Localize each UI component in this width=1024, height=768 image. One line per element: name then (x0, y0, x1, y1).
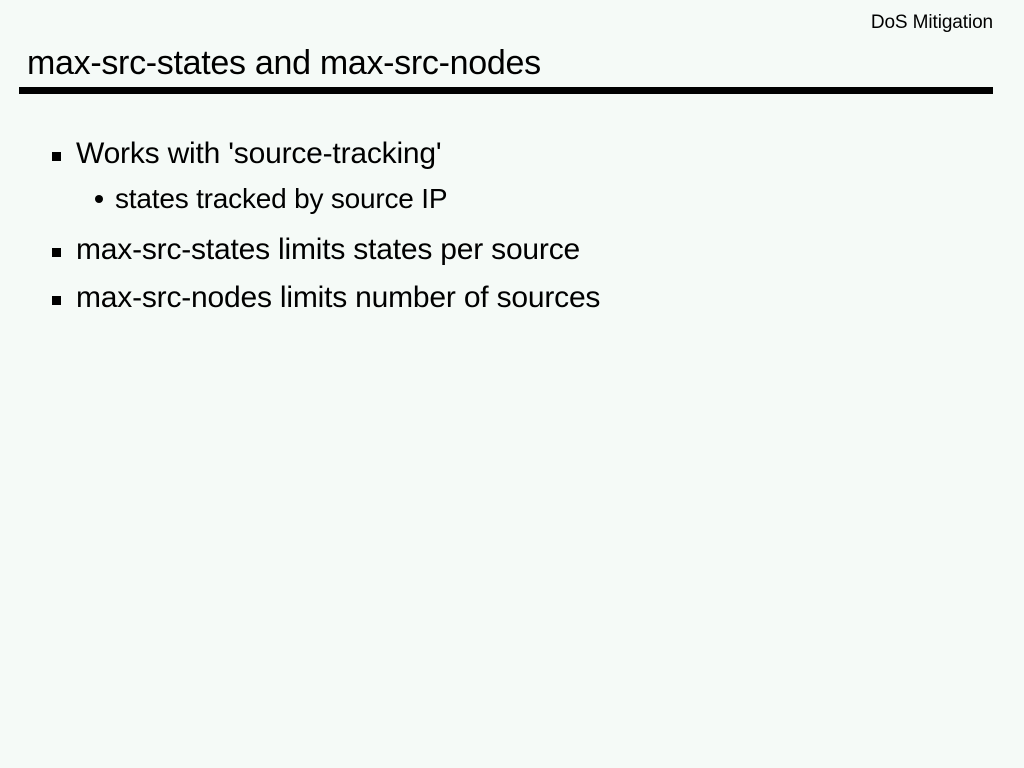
list-item: max-src-states limits states per source (0, 229, 1024, 277)
round-bullet-icon (95, 195, 103, 203)
list-item: max-src-nodes limits number of sources (0, 277, 1024, 325)
list-item-label: max-src-nodes limits number of sources (76, 280, 600, 316)
slide-title: max-src-states and max-src-nodes (27, 43, 541, 83)
list-item: Works with 'source-tracking' (0, 133, 1024, 181)
slide-bullet-list: Works with 'source-tracking' states trac… (0, 133, 1024, 325)
square-bullet-icon (52, 152, 61, 161)
list-item: states tracked by source IP (0, 181, 1024, 229)
title-divider-rule (19, 87, 993, 94)
list-item-label: max-src-states limits states per source (76, 232, 580, 268)
square-bullet-icon (52, 296, 61, 305)
presentation-slide: DoS Mitigation max-src-states and max-sr… (0, 0, 1024, 768)
slide-header-label: DoS Mitigation (871, 12, 993, 34)
list-item-label: states tracked by source IP (115, 182, 447, 216)
list-item-label: Works with 'source-tracking' (76, 136, 441, 172)
square-bullet-icon (52, 248, 61, 257)
